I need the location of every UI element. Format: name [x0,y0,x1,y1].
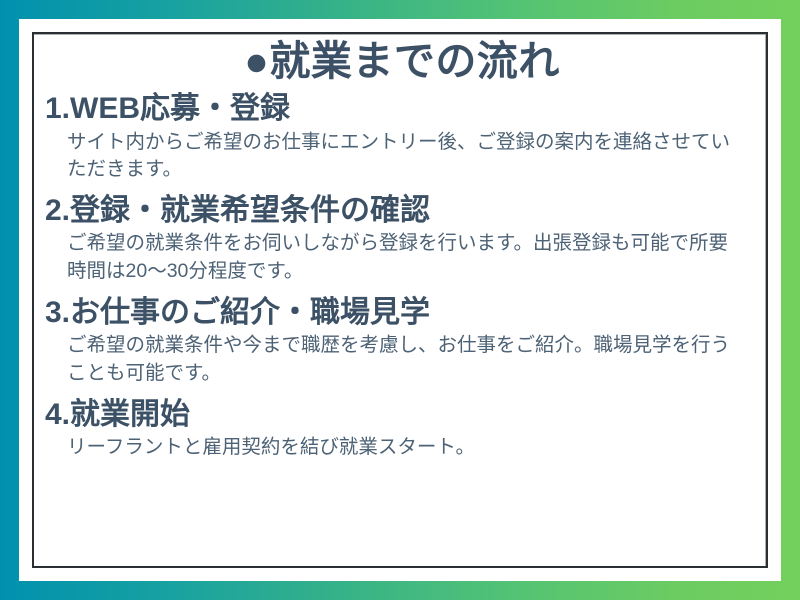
step-heading-4: 4.就業開始 [45,397,759,434]
step-heading-1: 1.WEB応募・登録 [45,91,759,128]
step-item-1: 1.WEB応募・登録 サイト内からご希望のお仕事にエントリー後、ご登録の案内を連… [45,91,759,184]
step-item-2: 2.登録・就業希望条件の確認 ご希望の就業条件をお伺いしながら登録を行います。出… [45,193,759,286]
poster-white-card: ●就業までの流れ 1.WEB応募・登録 サイト内からご希望のお仕事にエントリー後… [19,19,781,581]
step-body-2: ご希望の就業条件をお伺いしながら登録を行います。出張登録も可能で所要時間は20〜… [67,230,747,285]
step-heading-2: 2.登録・就業希望条件の確認 [45,193,759,230]
step-item-3: 3.お仕事のご紹介・職場見学 ご希望の就業条件や今まで職歴を考慮し、お仕事をご紹… [45,295,759,388]
page-title: ●就業までの流れ [45,39,759,85]
poster-gradient-background: ●就業までの流れ 1.WEB応募・登録 サイト内からご希望のお仕事にエントリー後… [0,0,800,600]
step-body-3: ご希望の就業条件や今まで職歴を考慮し、お仕事をご紹介。職場見学を行うことも可能で… [67,332,747,387]
step-heading-3: 3.お仕事のご紹介・職場見学 [45,295,759,332]
step-body-4: リーフラントと雇用契約を結び就業スタート。 [67,434,747,462]
step-body-1: サイト内からご希望のお仕事にエントリー後、ご登録の案内を連絡させていただきます。 [67,129,747,184]
poster-content: ●就業までの流れ 1.WEB応募・登録 サイト内からご希望のお仕事にエントリー後… [19,19,781,581]
step-item-4: 4.就業開始 リーフラントと雇用契約を結び就業スタート。 [45,397,759,462]
